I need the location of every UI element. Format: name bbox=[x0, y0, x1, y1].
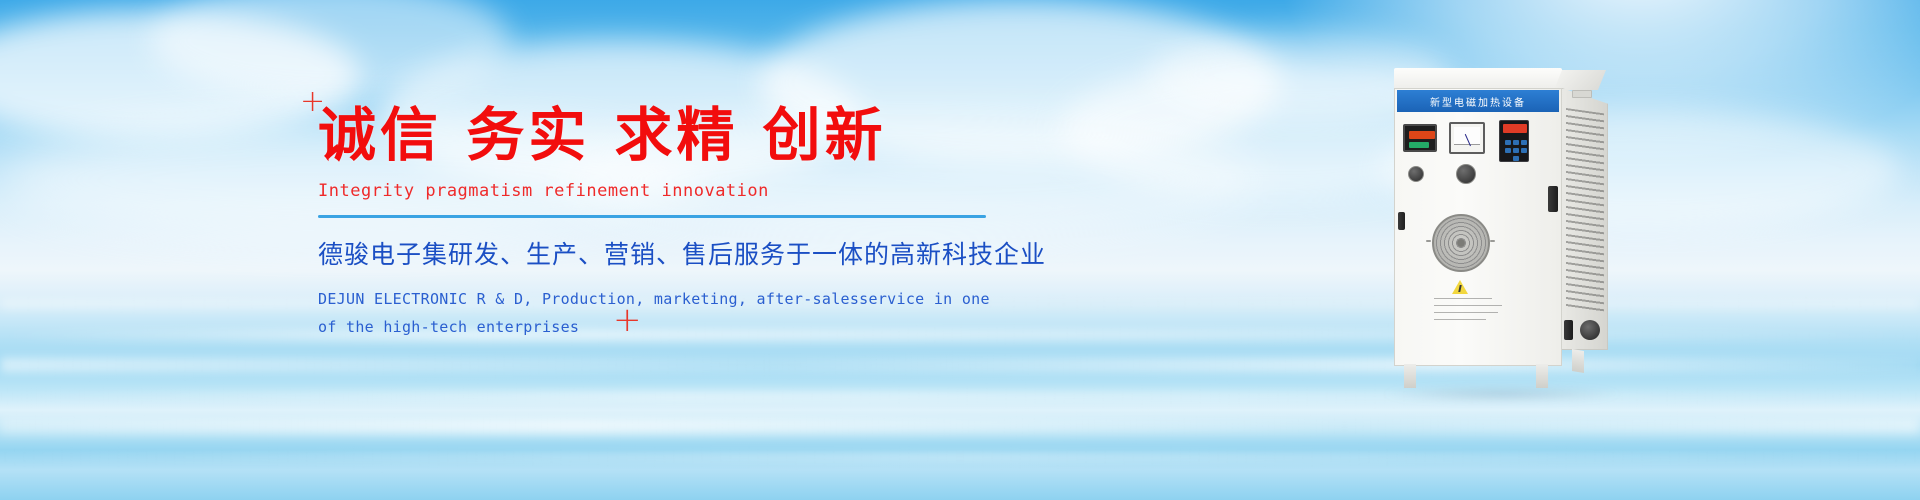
water-streak bbox=[0, 358, 1920, 372]
digital-readout-primary bbox=[1409, 131, 1435, 139]
product-name-plate-text: 新型电磁加热设备 bbox=[1430, 94, 1526, 109]
water-streak bbox=[0, 418, 1920, 434]
keypad-button bbox=[1513, 140, 1519, 145]
product-image-heating-equipment: 新型电磁加热设备 bbox=[1376, 68, 1626, 390]
gauge-needle bbox=[1465, 134, 1471, 146]
keypad-button bbox=[1505, 140, 1511, 145]
keypad-button bbox=[1505, 148, 1511, 153]
keypad-button bbox=[1513, 148, 1519, 153]
digital-readout-secondary bbox=[1409, 142, 1429, 148]
door-latch bbox=[1398, 212, 1405, 230]
keypad-button bbox=[1521, 148, 1527, 153]
ventilation-slots bbox=[1566, 108, 1604, 313]
headline-english: Integrity pragmatism refinement innovati… bbox=[318, 181, 1018, 201]
machine-leg bbox=[1404, 364, 1416, 388]
machine-leg bbox=[1572, 349, 1584, 373]
machine-top-side-panel bbox=[1554, 70, 1606, 90]
machine-top-panel bbox=[1394, 68, 1562, 90]
banner-copy: 诚信 务实 求精 创新 Integrity pragmatism refinem… bbox=[318, 104, 1018, 342]
digital-display-module bbox=[1403, 124, 1437, 152]
instruction-line bbox=[1434, 305, 1502, 306]
analog-gauge-module bbox=[1449, 122, 1485, 154]
connector-port-round bbox=[1580, 320, 1600, 340]
cloud-shape bbox=[0, 10, 360, 140]
water-streak bbox=[0, 452, 1920, 462]
fan-mount-screw bbox=[1490, 240, 1495, 242]
keypad-display bbox=[1503, 124, 1527, 133]
control-knob-large bbox=[1456, 164, 1476, 184]
instruction-label bbox=[1434, 298, 1504, 326]
keypad-button bbox=[1521, 140, 1527, 145]
connector-port-rectangular bbox=[1564, 320, 1573, 340]
description-chinese: 德骏电子集研发、生产、营销、售后服务于一体的高新科技企业 bbox=[318, 235, 1018, 271]
fan-mount-screw bbox=[1426, 240, 1431, 242]
instruction-line bbox=[1434, 319, 1486, 320]
description-english-line-2: of the high-tech enterprises bbox=[318, 313, 1018, 342]
instruction-line bbox=[1434, 298, 1492, 299]
water-streak bbox=[0, 392, 1920, 401]
product-name-plate: 新型电磁加热设备 bbox=[1397, 90, 1559, 112]
description-english: DEJUN ELECTRONIC R & D, Production, mark… bbox=[318, 285, 1018, 342]
warning-triangle-icon bbox=[1452, 280, 1468, 294]
door-handle bbox=[1548, 186, 1558, 212]
instruction-line bbox=[1434, 312, 1498, 313]
fan-grille-icon bbox=[1432, 214, 1490, 272]
divider-line bbox=[318, 215, 986, 218]
cloud-shape bbox=[150, 0, 510, 100]
gauge-dial-face bbox=[1454, 127, 1480, 145]
machine-leg bbox=[1536, 364, 1548, 388]
description-english-line-1: DEJUN ELECTRONIC R & D, Production, mark… bbox=[318, 285, 1018, 314]
keypad-button bbox=[1513, 156, 1519, 161]
vent-tab bbox=[1572, 90, 1592, 98]
promotional-banner: + + 诚信 务实 求精 创新 Integrity pragmatism ref… bbox=[0, 0, 1920, 500]
control-knob-small bbox=[1408, 166, 1424, 182]
keypad-control-module bbox=[1499, 120, 1529, 162]
headline-chinese: 诚信 务实 求精 创新 bbox=[318, 104, 1018, 167]
